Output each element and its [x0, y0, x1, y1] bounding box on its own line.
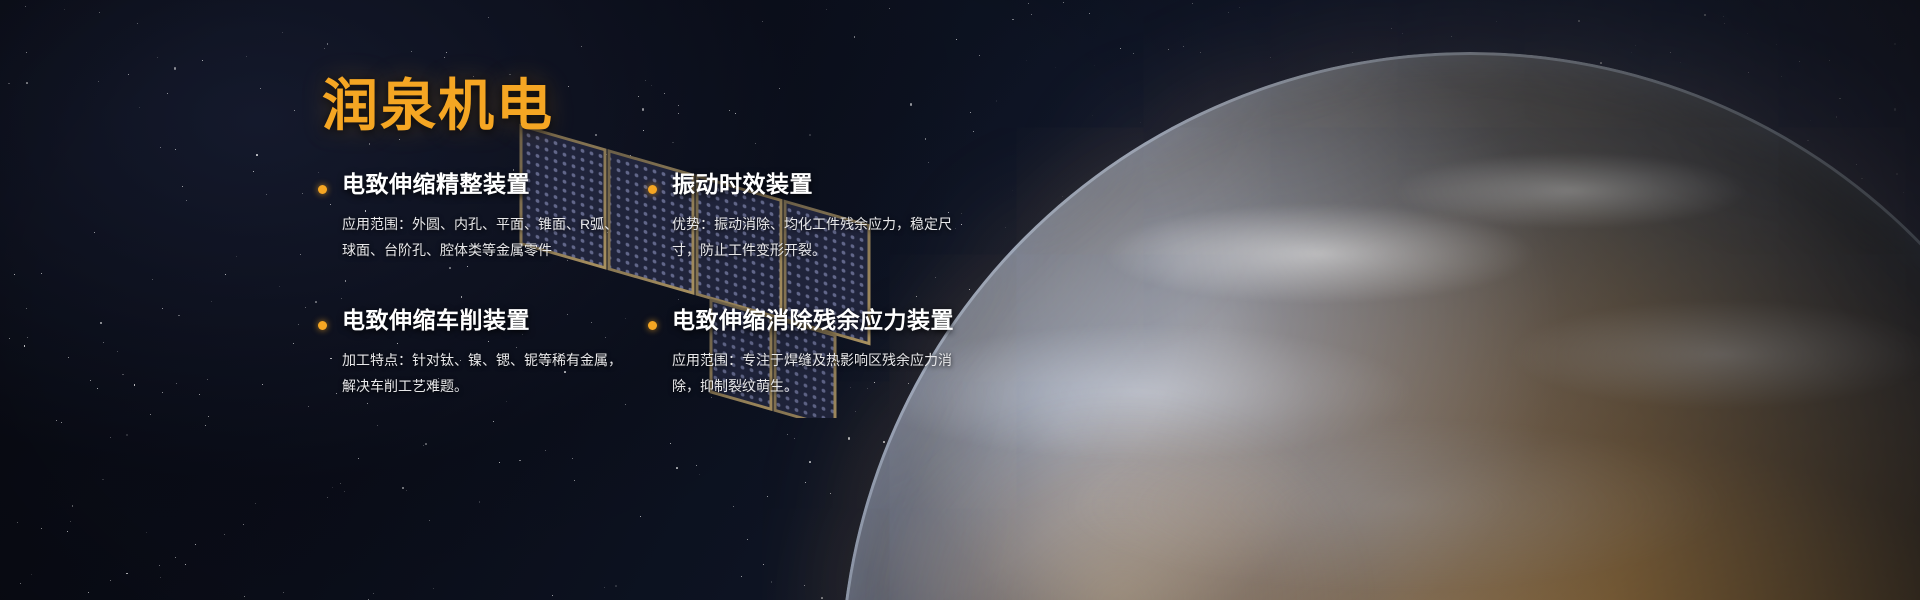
hero-banner: 润泉机电 电致伸缩精整装置 应用范围：外圆、内孔、平面、锥面、R弧、球面、台阶孔… [0, 0, 1920, 600]
bullet-dot-icon [648, 321, 657, 330]
feature-item-1[interactable]: 电致伸缩精整装置 应用范围：外圆、内孔、平面、锥面、R弧、球面、台阶孔、腔体类等… [318, 172, 648, 308]
feature-item-2[interactable]: 振动时效装置 优势：振动消除、均化工件残余应力，稳定尺寸，防止工件变形开裂。 [648, 172, 998, 308]
hero-content: 润泉机电 电致伸缩精整装置 应用范围：外圆、内孔、平面、锥面、R弧、球面、台阶孔… [0, 0, 1100, 600]
feature-description: 优势：振动消除、均化工件残余应力，稳定尺寸，防止工件变形开裂。 [672, 212, 972, 264]
feature-description: 加工特点：针对钛、镍、锶、铌等稀有金属，解决车削工艺难题。 [342, 348, 632, 400]
feature-grid: 电致伸缩精整装置 应用范围：外圆、内孔、平面、锥面、R弧、球面、台阶孔、腔体类等… [318, 172, 998, 444]
bullet-dot-icon [318, 321, 327, 330]
feature-description: 应用范围：专注于焊缝及热影响区残余应力消除，抑制裂纹萌生。 [672, 348, 972, 400]
feature-title: 电致伸缩消除残余应力装置 [672, 308, 998, 333]
bullet-dot-icon [648, 185, 657, 194]
feature-title: 电致伸缩精整装置 [342, 172, 648, 197]
feature-title: 振动时效装置 [672, 172, 998, 197]
feature-item-3[interactable]: 电致伸缩车削装置 加工特点：针对钛、镍、锶、铌等稀有金属，解决车削工艺难题。 [318, 308, 648, 444]
feature-title: 电致伸缩车削装置 [342, 308, 648, 333]
bullet-dot-icon [318, 185, 327, 194]
feature-item-4[interactable]: 电致伸缩消除残余应力装置 应用范围：专注于焊缝及热影响区残余应力消除，抑制裂纹萌… [648, 308, 998, 444]
brand-title: 润泉机电 [322, 78, 554, 134]
feature-description: 应用范围：外圆、内孔、平面、锥面、R弧、球面、台阶孔、腔体类等金属零件 [342, 212, 632, 264]
